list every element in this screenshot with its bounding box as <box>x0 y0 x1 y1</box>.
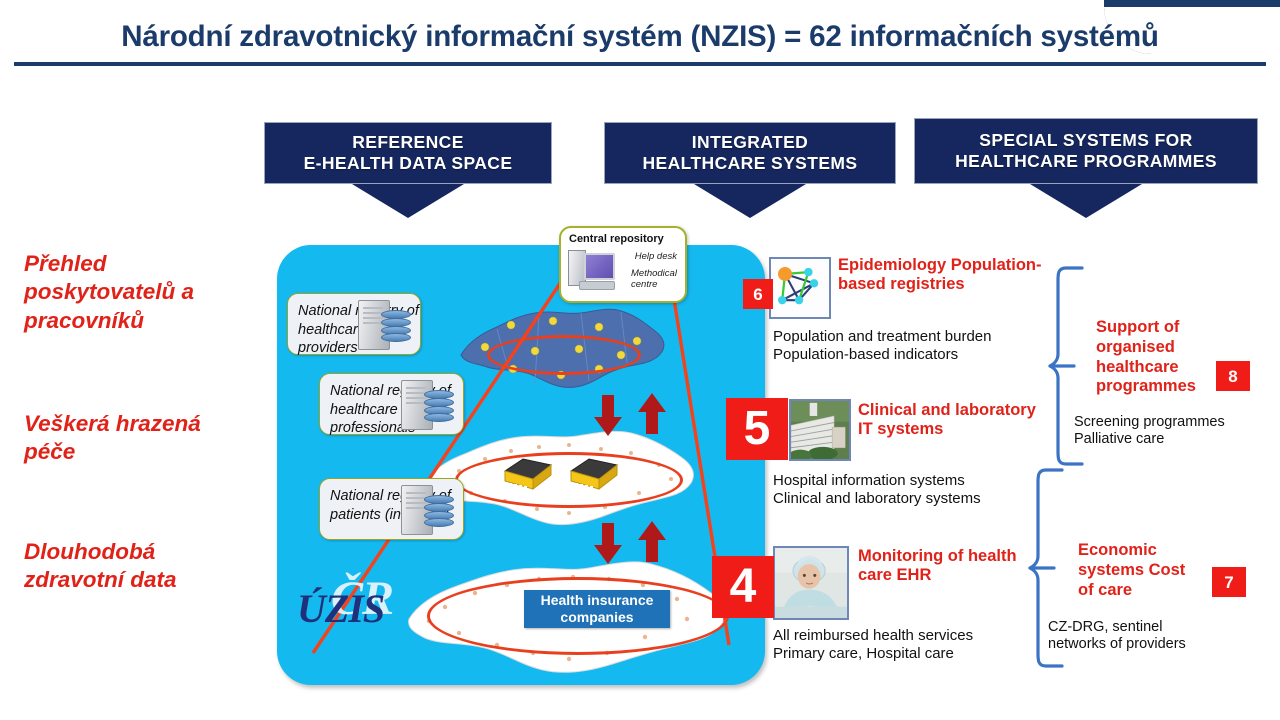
banner-reference-arrow-icon <box>352 184 464 218</box>
banner-integrated-line2: HEALTHCARE SYSTEMS <box>643 153 858 174</box>
block-clinical-lab-sub-line1: Hospital information systems <box>773 472 1053 490</box>
block-epidemiology-sub: Population and treatment burden Populati… <box>773 328 1043 365</box>
uzis-logo: ČR ÚZIS <box>293 575 423 637</box>
block-epidemiology-heading: Epidemiology Population-based registries <box>838 256 1048 295</box>
title-underline <box>14 62 1266 66</box>
reference-data-space-panel: Health insurance companies National regi… <box>277 245 765 685</box>
block-clinical-lab-sub-line2: Clinical and laboratory systems <box>773 490 1053 508</box>
far-block-support-sub-line1: Screening programmes <box>1074 414 1274 431</box>
banner-special-line1: SPECIAL SYSTEMS FOR <box>979 130 1192 151</box>
badge-6: 6 <box>743 279 773 309</box>
central-repository-box[interactable]: Central repository Help desk Methodical … <box>559 226 687 303</box>
registry-card-professionals[interactable]: National registry of healthcare professi… <box>319 373 464 435</box>
far-block-economic-sub: CZ-DRG, sentinel networks of providers <box>1048 619 1258 654</box>
far-block-support-sub-line2: Palliative care <box>1074 431 1274 448</box>
database-server-icon <box>358 296 414 350</box>
block-epidemiology-sub-line2: Population-based indicators <box>773 346 1043 364</box>
block-monitoring-sub: All reimbursed health services Primary c… <box>773 627 1053 664</box>
far-block-support-sub: Screening programmes Palliative care <box>1074 414 1274 449</box>
hospital-building-photo <box>789 399 851 461</box>
banner-special-box: SPECIAL SYSTEMS FOR HEALTHCARE PROGRAMME… <box>914 118 1258 184</box>
badge-4: 4 <box>712 556 774 618</box>
banner-reference: REFERENCE E-HEALTH DATA SPACE <box>264 122 552 218</box>
far-block-economic-heading: Economic systems Cost of care <box>1078 541 1198 600</box>
block-monitoring-sub-line2: Primary care, Hospital care <box>773 645 1053 663</box>
block-epidemiology: Epidemiology Population-based registries <box>838 256 1048 295</box>
block-monitoring-sub-line1: All reimbursed health services <box>773 627 1053 645</box>
block-epidemiology-sub-line1: Population and treatment burden <box>773 328 1043 346</box>
block-clinical-lab: Clinical and laboratory IT systems <box>858 401 1048 440</box>
banner-integrated: INTEGRATED HEALTHCARE SYSTEMS <box>604 122 896 218</box>
note-providers-overview: Přehled poskytovatelů a pracovníků <box>24 250 254 335</box>
far-block-economic-sub-line1: CZ-DRG, sentinel <box>1048 619 1258 636</box>
banner-reference-box: REFERENCE E-HEALTH DATA SPACE <box>264 122 552 184</box>
far-block-support: Support of organised healthcare programm… <box>1096 318 1214 397</box>
page-title: Národní zdravotnický informační systém (… <box>16 20 1264 54</box>
banner-integrated-line1: INTEGRATED <box>692 132 808 153</box>
database-server-icon <box>401 376 457 430</box>
central-repository-helpdesk: Help desk <box>635 251 677 262</box>
far-block-economic-sub-line2: networks of providers <box>1048 636 1258 653</box>
registry-card-providers[interactable]: National registry of healthcare provider… <box>287 293 421 355</box>
note-longterm-data: Dlouhodobá zdravotní data <box>24 538 254 595</box>
banner-special-arrow-icon <box>1030 184 1142 218</box>
banner-reference-line2: E-HEALTH DATA SPACE <box>304 153 513 174</box>
banner-special: SPECIAL SYSTEMS FOR HEALTHCARE PROGRAMME… <box>914 118 1258 218</box>
badge-7: 7 <box>1212 567 1246 597</box>
database-server-icon <box>401 481 457 535</box>
banner-integrated-arrow-icon <box>694 184 806 218</box>
block-clinical-lab-sub: Hospital information systems Clinical an… <box>773 472 1053 509</box>
central-repository-title: Central repository <box>569 233 664 245</box>
registry-card-patients[interactable]: National registry of patients (insurees) <box>319 478 464 540</box>
computer-icon <box>568 248 620 292</box>
block-clinical-lab-heading: Clinical and laboratory IT systems <box>858 401 1048 440</box>
note-covered-care: Veškerá hrazená péče <box>24 410 254 467</box>
block-monitoring-heading: Monitoring of health care EHR <box>858 547 1038 586</box>
badge-5: 5 <box>726 398 788 460</box>
uzis-logo-text: ÚZIS <box>297 585 384 632</box>
far-block-support-heading: Support of organised healthcare programm… <box>1096 318 1214 397</box>
block-monitoring: Monitoring of health care EHR <box>858 547 1038 586</box>
banner-reference-line1: REFERENCE <box>352 132 464 153</box>
hospital-patient-photo <box>773 546 849 620</box>
badge-8: 8 <box>1216 361 1250 391</box>
banner-integrated-box: INTEGRATED HEALTHCARE SYSTEMS <box>604 122 896 184</box>
network-graph-icon <box>769 257 831 319</box>
far-block-economic: Economic systems Cost of care <box>1078 541 1198 600</box>
central-repository-methodical: Methodical centre <box>631 268 677 291</box>
title-bar: Národní zdravotnický informační systém (… <box>0 20 1280 84</box>
banner-special-line2: HEALTHCARE PROGRAMMES <box>955 151 1217 172</box>
